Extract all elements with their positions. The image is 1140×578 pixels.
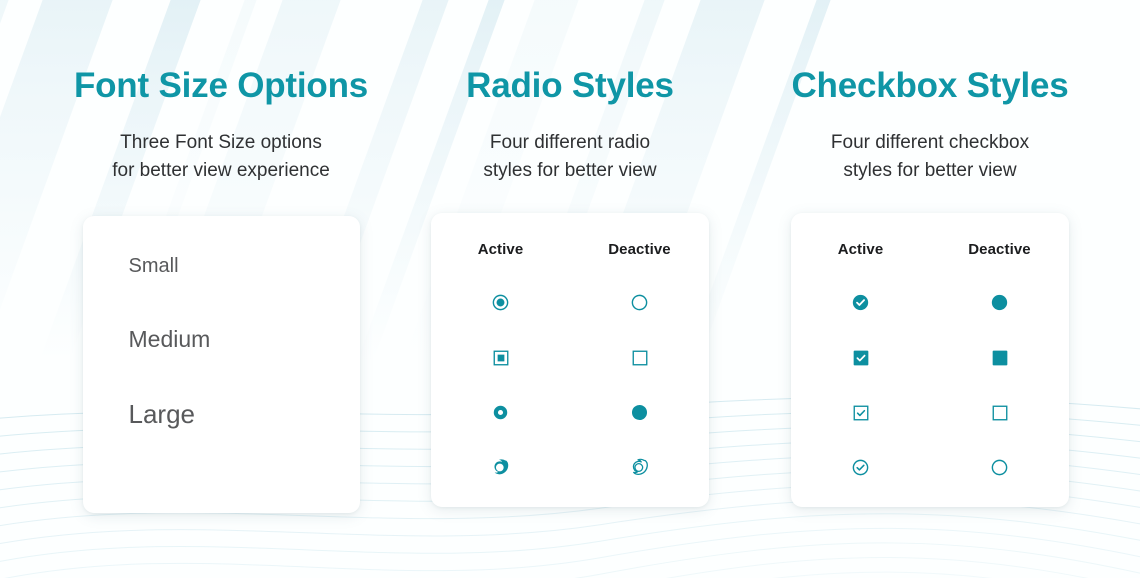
- radio-circle-outline-icon[interactable]: [630, 293, 649, 312]
- column-header-active: Active: [431, 241, 570, 258]
- checkbox-circle-check-filled-icon[interactable]: [851, 293, 870, 312]
- option-cell-deactive: [930, 404, 1069, 422]
- radio-leaf-outline-icon[interactable]: [629, 457, 650, 478]
- option-row: [431, 330, 709, 385]
- radio-donut-filled-icon[interactable]: [492, 404, 509, 421]
- font-size-option-small[interactable]: Small: [129, 256, 360, 276]
- option-cell-active: [431, 457, 570, 478]
- radio-leaf-filled-icon[interactable]: [490, 457, 511, 478]
- checkbox-matrix-header: Active Deactive: [791, 241, 1069, 258]
- font-size-option-large[interactable]: Large: [129, 401, 360, 427]
- column-header-active: Active: [791, 241, 930, 258]
- checkbox-style-matrix: Active Deactive: [791, 241, 1069, 495]
- checkbox-circle-outline-icon[interactable]: [990, 458, 1009, 477]
- option-row: [431, 385, 709, 440]
- option-cell-deactive: [570, 349, 709, 367]
- page-title-checkbox-styles: Checkbox Styles: [791, 68, 1068, 103]
- radio-square-outline-icon[interactable]: [631, 349, 649, 367]
- option-row: [431, 440, 709, 495]
- option-cell-active: [431, 349, 570, 367]
- column-header-deactive: Deactive: [930, 241, 1069, 258]
- panel-checkbox-styles: Checkbox Styles Four different checkbox …: [740, 0, 1140, 578]
- card-checkbox-styles: Active Deactive: [791, 213, 1069, 507]
- subtitle-font-size-options: Three Font Size options for better view …: [112, 129, 330, 184]
- option-cell-deactive: [930, 458, 1069, 477]
- page-title-radio-styles: Radio Styles: [466, 68, 674, 103]
- panels-container: Font Size Options Three Font Size option…: [0, 0, 1140, 578]
- option-cell-active: [791, 293, 930, 312]
- option-cell-deactive: [570, 457, 709, 478]
- radio-circle-solid-icon[interactable]: [630, 403, 649, 422]
- option-row: [791, 275, 1069, 330]
- subtitle-checkbox-styles: Four different checkbox styles for bette…: [831, 129, 1029, 184]
- option-row: [791, 330, 1069, 385]
- option-cell-active: [431, 404, 570, 421]
- option-row: [791, 440, 1069, 495]
- option-cell-deactive: [930, 293, 1069, 312]
- option-cell-deactive: [930, 349, 1069, 367]
- radio-square-filled-inner-icon[interactable]: [492, 349, 510, 367]
- radio-circle-filled-dot-icon[interactable]: [491, 293, 510, 312]
- panel-font-size-options: Font Size Options Three Font Size option…: [0, 0, 400, 578]
- radio-style-matrix: Active Deactive: [431, 241, 709, 495]
- card-font-size-options: Small Medium Large: [83, 216, 360, 513]
- option-cell-deactive: [570, 403, 709, 422]
- option-row: [431, 275, 709, 330]
- page-title-font-size-options: Font Size Options: [74, 68, 368, 103]
- checkbox-circle-solid-icon[interactable]: [990, 293, 1009, 312]
- checkbox-circle-check-outline-icon[interactable]: [851, 458, 870, 477]
- panel-radio-styles: Radio Styles Four different radio styles…: [400, 0, 740, 578]
- radio-matrix-header: Active Deactive: [431, 241, 709, 258]
- option-cell-active: [431, 293, 570, 312]
- card-radio-styles: Active Deactive: [431, 213, 709, 507]
- subtitle-radio-styles: Four different radio styles for better v…: [483, 129, 656, 184]
- option-cell-active: [791, 458, 930, 477]
- checkbox-square-check-outline-icon[interactable]: [852, 404, 870, 422]
- font-size-option-medium[interactable]: Medium: [129, 328, 360, 351]
- column-header-deactive: Deactive: [570, 241, 709, 258]
- option-cell-active: [791, 404, 930, 422]
- checkbox-square-outline-icon[interactable]: [991, 404, 1009, 422]
- option-cell-active: [791, 349, 930, 367]
- option-row: [791, 385, 1069, 440]
- checkbox-square-solid-icon[interactable]: [991, 349, 1009, 367]
- option-cell-deactive: [570, 293, 709, 312]
- checkbox-square-check-filled-icon[interactable]: [852, 349, 870, 367]
